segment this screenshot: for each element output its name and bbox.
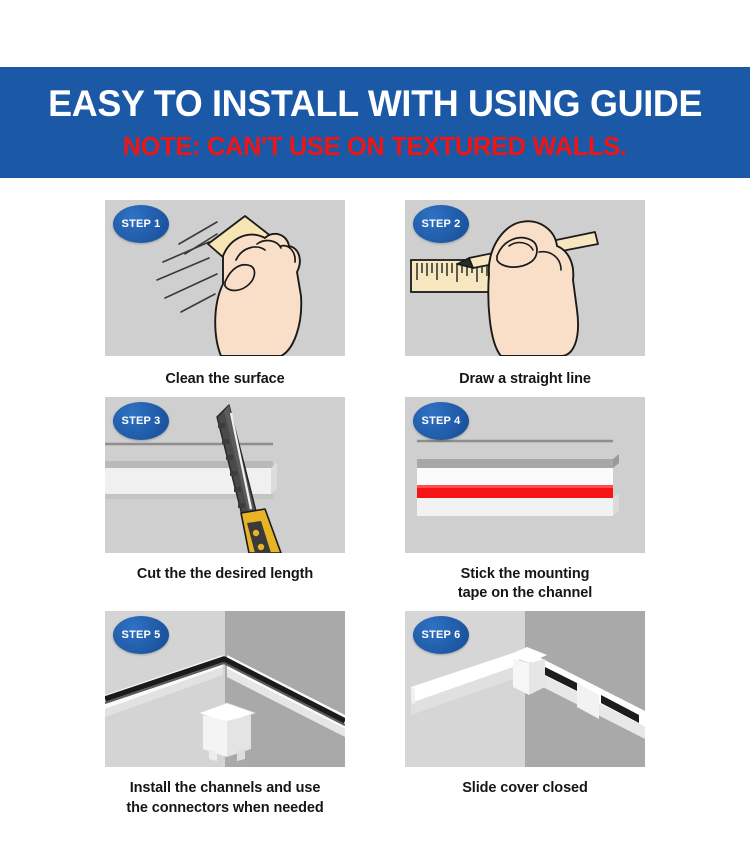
step-3-caption: Cut the the desired length (105, 553, 345, 584)
step-4-caption: Stick the mounting tape on the channel (405, 553, 645, 603)
step-5-caption-line2: the connectors when needed (126, 800, 323, 816)
step-1-badge: STEP 1 (113, 205, 169, 243)
step-3-badge: STEP 3 (113, 402, 169, 440)
step-2-figure: STEP 2 (405, 200, 645, 356)
step-4-badge: STEP 4 (413, 402, 469, 440)
step-card-2: STEP 2 Draw a straight line (405, 200, 645, 389)
header-banner: EASY TO INSTALL WITH USING GUIDE NOTE: C… (0, 67, 750, 178)
step-5-caption-line1: Install the channels and use (130, 780, 321, 796)
step-card-3: STEP 3 Cut the the desired length (105, 397, 345, 603)
step-6-figure: STEP 6 (405, 611, 645, 767)
step-4-caption-line1: Stick the mounting (461, 566, 590, 582)
step-4-figure: STEP 4 (405, 397, 645, 553)
step-4-caption-line2: tape on the channel (458, 585, 592, 601)
step-1-figure: STEP 1 (105, 200, 345, 356)
step-card-5: STEP 5 Install the channels and use the … (105, 611, 345, 817)
step-6-caption: Slide cover closed (405, 767, 645, 798)
step-2-badge: STEP 2 (413, 205, 469, 243)
step-card-4: STEP 4 Stick the mounting tape on the ch… (405, 397, 645, 603)
step-card-6: STEP 6 Slide cover closed (405, 611, 645, 817)
step-1-caption: Clean the surface (105, 356, 345, 389)
step-card-1: STEP 1 Clean the surface (105, 200, 345, 389)
step-5-figure: STEP 5 (105, 611, 345, 767)
banner-note: NOTE: CAN'T USE ON TEXTURED WALLS. (123, 133, 627, 160)
steps-grid: STEP 1 Clean the surface (105, 200, 645, 826)
step-2-caption: Draw a straight line (405, 356, 645, 389)
step-3-figure: STEP 3 (105, 397, 345, 553)
step-5-caption: Install the channels and use the connect… (105, 767, 345, 817)
banner-title: EASY TO INSTALL WITH USING GUIDE (48, 85, 702, 124)
